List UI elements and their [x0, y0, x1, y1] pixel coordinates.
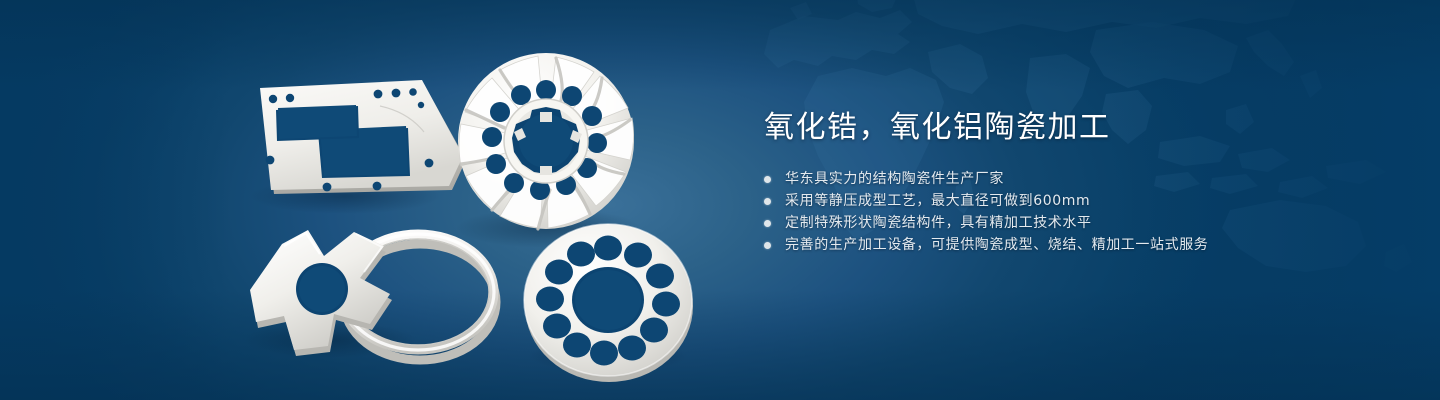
- feature-list: 华东具实力的结构陶瓷件生产厂家 采用等静压成型工艺，最大直径可做到600mm 定…: [764, 168, 1324, 256]
- bullet-dot-icon: [764, 242, 771, 249]
- feature-text: 华东具实力的结构陶瓷件生产厂家: [785, 168, 1004, 190]
- banner-copy: 氧化锆，氧化铝陶瓷加工 华东具实力的结构陶瓷件生产厂家 采用等静压成型工艺，最大…: [764, 108, 1324, 272]
- perforated-ceramic-disc: [524, 224, 693, 382]
- list-item: 定制特殊形状陶瓷结构件，具有精加工技术水平: [764, 212, 1324, 234]
- bullet-dot-icon: [764, 198, 771, 205]
- product-image-group: [0, 0, 760, 400]
- bullet-dot-icon: [764, 220, 771, 227]
- list-item: 华东具实力的结构陶瓷件生产厂家: [764, 168, 1324, 190]
- feature-text: 定制特殊形状陶瓷结构件，具有精加工技术水平: [785, 212, 1092, 234]
- list-item: 完善的生产加工设备，可提供陶瓷成型、烧结、精加工一站式服务: [764, 234, 1324, 256]
- list-item: 采用等静压成型工艺，最大直径可做到600mm: [764, 190, 1324, 212]
- bullet-dot-icon: [764, 176, 771, 183]
- feature-text: 采用等静压成型工艺，最大直径可做到600mm: [785, 190, 1090, 212]
- ceramic-impeller: [458, 53, 634, 229]
- feature-text: 完善的生产加工设备，可提供陶瓷成型、烧结、精加工一站式服务: [785, 234, 1208, 256]
- banner-headline: 氧化锆，氧化铝陶瓷加工: [764, 108, 1324, 148]
- machined-ceramic-plate: [260, 80, 466, 194]
- hero-banner: 氧化锆，氧化铝陶瓷加工 华东具实力的结构陶瓷件生产厂家 采用等静压成型工艺，最大…: [0, 0, 1440, 400]
